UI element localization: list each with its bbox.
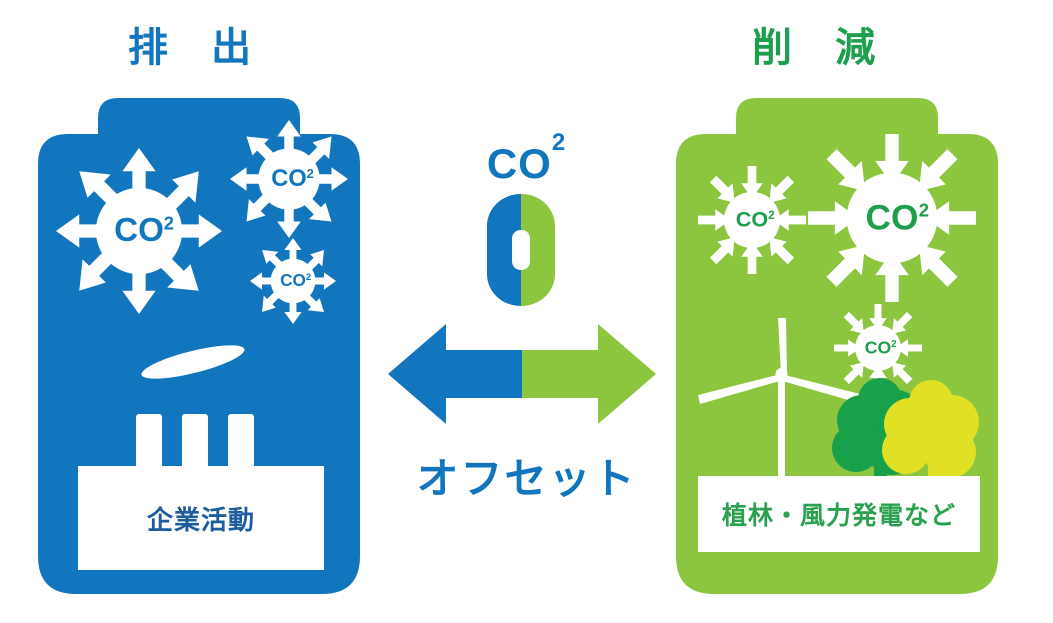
svg-text:CO: CO: [114, 212, 164, 249]
reduction-label-plate: 植林・風力発電など: [698, 476, 980, 552]
zero-left-half: [484, 192, 521, 308]
reduction-title: 削 減: [752, 28, 891, 68]
reduction-label-text: 植林・風力発電など: [722, 496, 956, 532]
zero-right-half: [521, 192, 558, 308]
reduction-panel-content: CO 2: [676, 86, 998, 594]
zero-emission-digit: [484, 192, 558, 308]
co2-burst-large-icon: CO 2: [808, 134, 976, 302]
emission-title: 排 出: [128, 28, 267, 68]
smoke-trail-icon: [138, 344, 248, 380]
svg-text:CO: CO: [280, 270, 306, 290]
center-co2-superscript: 2: [552, 129, 566, 156]
svg-text:2: 2: [919, 199, 929, 220]
svg-text:CO: CO: [866, 199, 919, 238]
center-co2-text: CO: [487, 140, 552, 187]
svg-text:2: 2: [768, 208, 775, 222]
reduction-panel: CO 2: [676, 86, 998, 594]
svg-text:2: 2: [891, 339, 896, 350]
arrow-left-blue: [388, 324, 522, 424]
co2-burst-medium-icon: CO 2: [698, 166, 806, 274]
svg-text:2: 2: [164, 212, 174, 233]
svg-text:CO: CO: [865, 337, 891, 357]
offset-double-arrow: [388, 318, 656, 430]
carbon-offset-diagram: 排 出 削 減: [0, 0, 1053, 623]
arrow-right-green: [522, 324, 656, 424]
svg-text:CO: CO: [736, 206, 768, 231]
svg-text:2: 2: [306, 272, 311, 283]
co2-burst-small-icon: CO 2: [250, 238, 336, 324]
